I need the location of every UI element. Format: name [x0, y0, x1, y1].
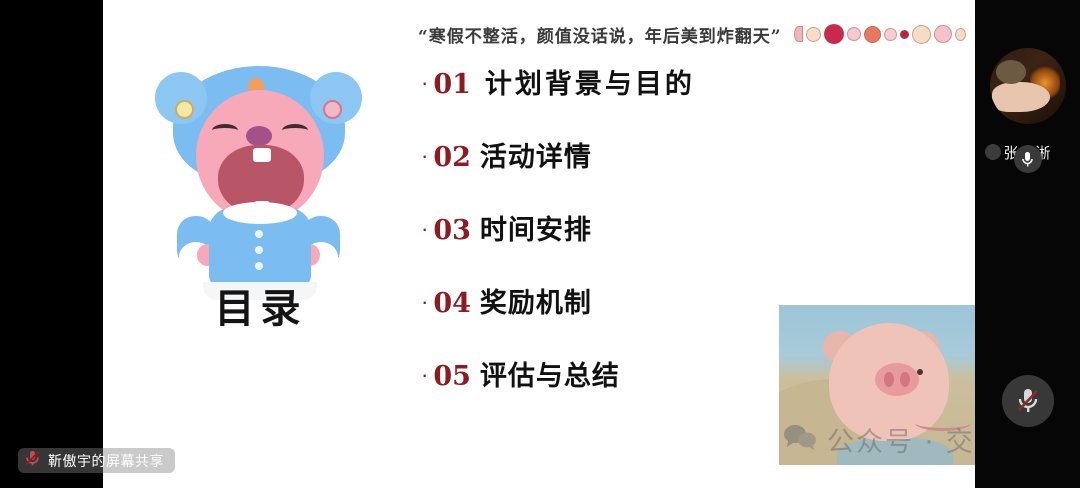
mascot-body	[209, 208, 311, 286]
slide-section-title: 目录	[103, 276, 418, 334]
toc-item: ·02活动详情	[421, 135, 941, 208]
petal-shape	[884, 28, 897, 41]
toc-item-number: 04	[433, 288, 471, 319]
avatar-arm	[992, 82, 1050, 112]
slide-headline-row: “寒假不整活，颜值没话说，年后美到炸翻天”	[418, 16, 973, 52]
petal-shape	[864, 26, 881, 43]
shared-slide: 目录 “寒假不整活，颜值没话说，年后美到炸翻天” ·01计划背景与目的·02活动…	[103, 0, 975, 488]
mascot-nose	[246, 126, 272, 146]
mascot-coat-dot-2	[255, 246, 263, 254]
toc-bullet-icon: ·	[421, 218, 428, 240]
mascot-button-left	[175, 100, 194, 119]
petal-shape	[847, 27, 861, 41]
petal-shape	[824, 24, 844, 44]
letterbox-left	[0, 0, 103, 488]
mascot-column: 目录	[103, 0, 418, 488]
toc-item-number: 03	[433, 215, 471, 246]
toc-item-label: 评估与总结	[480, 354, 620, 393]
toc-item-label: 奖励机制	[480, 281, 592, 320]
petal-decoration-icon	[794, 24, 966, 44]
toc-item-label: 活动详情	[480, 135, 592, 174]
toc-item: ·03时间安排	[421, 208, 941, 281]
petal-shape	[806, 27, 821, 42]
petal-shape	[934, 25, 952, 43]
mascot-collar	[223, 202, 297, 224]
pig-nostril-right	[900, 372, 910, 387]
mascot-button-right	[323, 100, 342, 119]
bear-mascot-icon	[151, 58, 366, 288]
toc-item-label: 计划背景与目的	[485, 62, 695, 101]
mascot-tooth-top	[253, 148, 271, 162]
pig-nostril-left	[884, 372, 894, 387]
mascot-ear-left	[155, 72, 207, 124]
pig-snout	[875, 363, 919, 396]
toc-item-number: 02	[433, 142, 471, 173]
slide-headline: “寒假不整活，颜值没话说，年后美到炸翻天”	[418, 22, 782, 47]
mascot-eye-left	[212, 124, 238, 137]
petal-shape	[900, 30, 909, 39]
toc-item-number: 01	[433, 69, 471, 100]
muted-microphone-icon	[1015, 386, 1041, 416]
participant-tile[interactable]: 张贵淅	[975, 48, 1080, 163]
toc-item: ·01计划背景与目的	[421, 62, 941, 135]
screen-share-indicator[interactable]: 靳傲宇的屏幕共享	[18, 448, 175, 473]
petal-shape	[912, 25, 931, 44]
avatar[interactable]	[990, 48, 1066, 124]
mascot-coat-dot-3	[255, 262, 263, 270]
screen-share-label: 靳傲宇的屏幕共享	[48, 451, 164, 471]
avatar-hair	[996, 60, 1026, 84]
wechat-icon	[783, 423, 817, 456]
mute-button[interactable]	[1002, 375, 1054, 427]
toc-bullet-icon: ·	[421, 364, 428, 386]
participant-sidebar: 张贵淅	[975, 0, 1080, 488]
screen-root: 目录 “寒假不整活，颜值没话说，年后美到炸翻天” ·01计划背景与目的·02活动…	[0, 0, 1080, 488]
toc-bullet-icon: ·	[421, 145, 428, 167]
toc-item-number: 05	[433, 361, 471, 392]
mascot-coat-dot-1	[255, 230, 263, 238]
microphone-icon	[1014, 145, 1042, 173]
watermark-text: 公众号 · 交通学院冷	[827, 420, 975, 459]
toc-bullet-icon: ·	[421, 72, 428, 94]
muted-microphone-icon	[24, 449, 41, 472]
petal-shape	[955, 28, 966, 41]
mascot-eye-right	[282, 124, 308, 137]
mascot-ear-right	[310, 72, 362, 124]
toc-bullet-icon: ·	[421, 291, 428, 313]
wechat-watermark: 公众号 · 交通学院冷	[783, 420, 975, 459]
toc-item-label: 时间安排	[480, 208, 592, 247]
petal-shape	[794, 26, 803, 42]
